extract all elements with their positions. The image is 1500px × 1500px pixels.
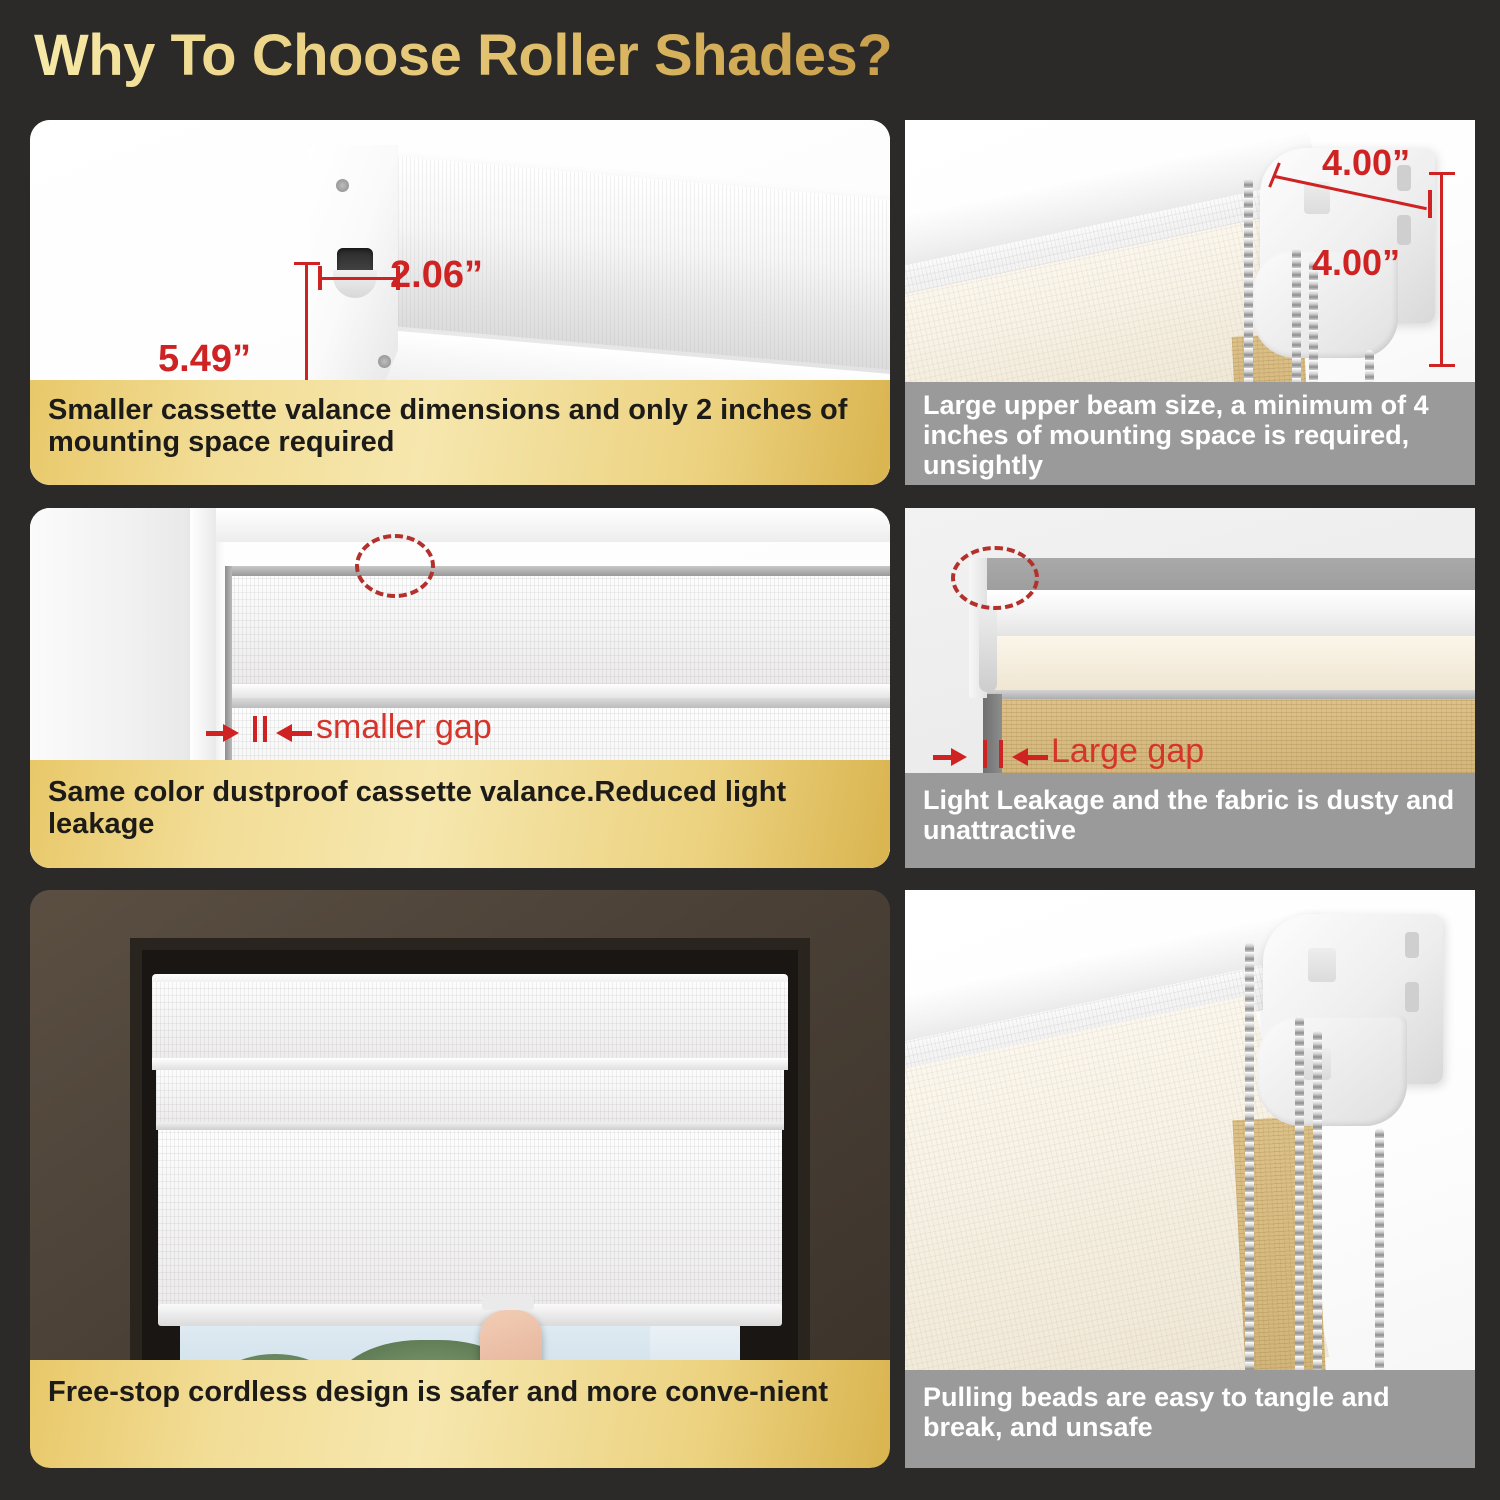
panel-mid-left: smaller gap Same color dustproof cassett… [30, 508, 890, 868]
caption-bottom-left: Free-stop cordless design is safer and m… [30, 1360, 890, 1468]
beam-height-label: 4.00” [1312, 242, 1400, 284]
page-title: Why To Choose Roller Shades? [34, 22, 892, 89]
caption-mid-left: Same color dustproof cassette valance.Re… [30, 760, 890, 868]
beam-height-dimension-line [1440, 172, 1443, 367]
gap-highlight-ellipse [951, 546, 1039, 610]
smaller-gap-label: smaller gap [316, 708, 492, 747]
caption-top-right: Large upper beam size, a minimum of 4 in… [905, 382, 1475, 485]
caption-bottom-right: Pulling beads are easy to tangle and bre… [905, 1370, 1475, 1468]
caption-top-left: Smaller cassette valance dimensions and … [30, 380, 890, 485]
panel-top-right: 4.00” 4.00” Large upper beam size, a min… [905, 120, 1475, 485]
panel-bottom-left: Free-stop cordless design is safer and m… [30, 890, 890, 1468]
panel-bottom-right: Pulling beads are easy to tangle and bre… [905, 890, 1475, 1468]
beam-width-label: 4.00” [1322, 142, 1410, 184]
panel-top-left: 2.06” 5.49” Smaller cassette valance dim… [30, 120, 890, 485]
large-gap-label: Large gap [1051, 732, 1204, 771]
width-dimension-line [318, 277, 400, 280]
caption-mid-right: Light Leakage and the fabric is dusty an… [905, 773, 1475, 868]
gap-highlight-ellipse-2 [355, 534, 435, 598]
width-dimension-label: 2.06” [390, 254, 483, 297]
infographic-root: Why To Choose Roller Shades? 2.06” [0, 0, 1500, 1500]
panel-mid-right: Large gap Light Leakage and the fabric i… [905, 508, 1475, 868]
height-dimension-label: 5.49” [158, 338, 251, 381]
